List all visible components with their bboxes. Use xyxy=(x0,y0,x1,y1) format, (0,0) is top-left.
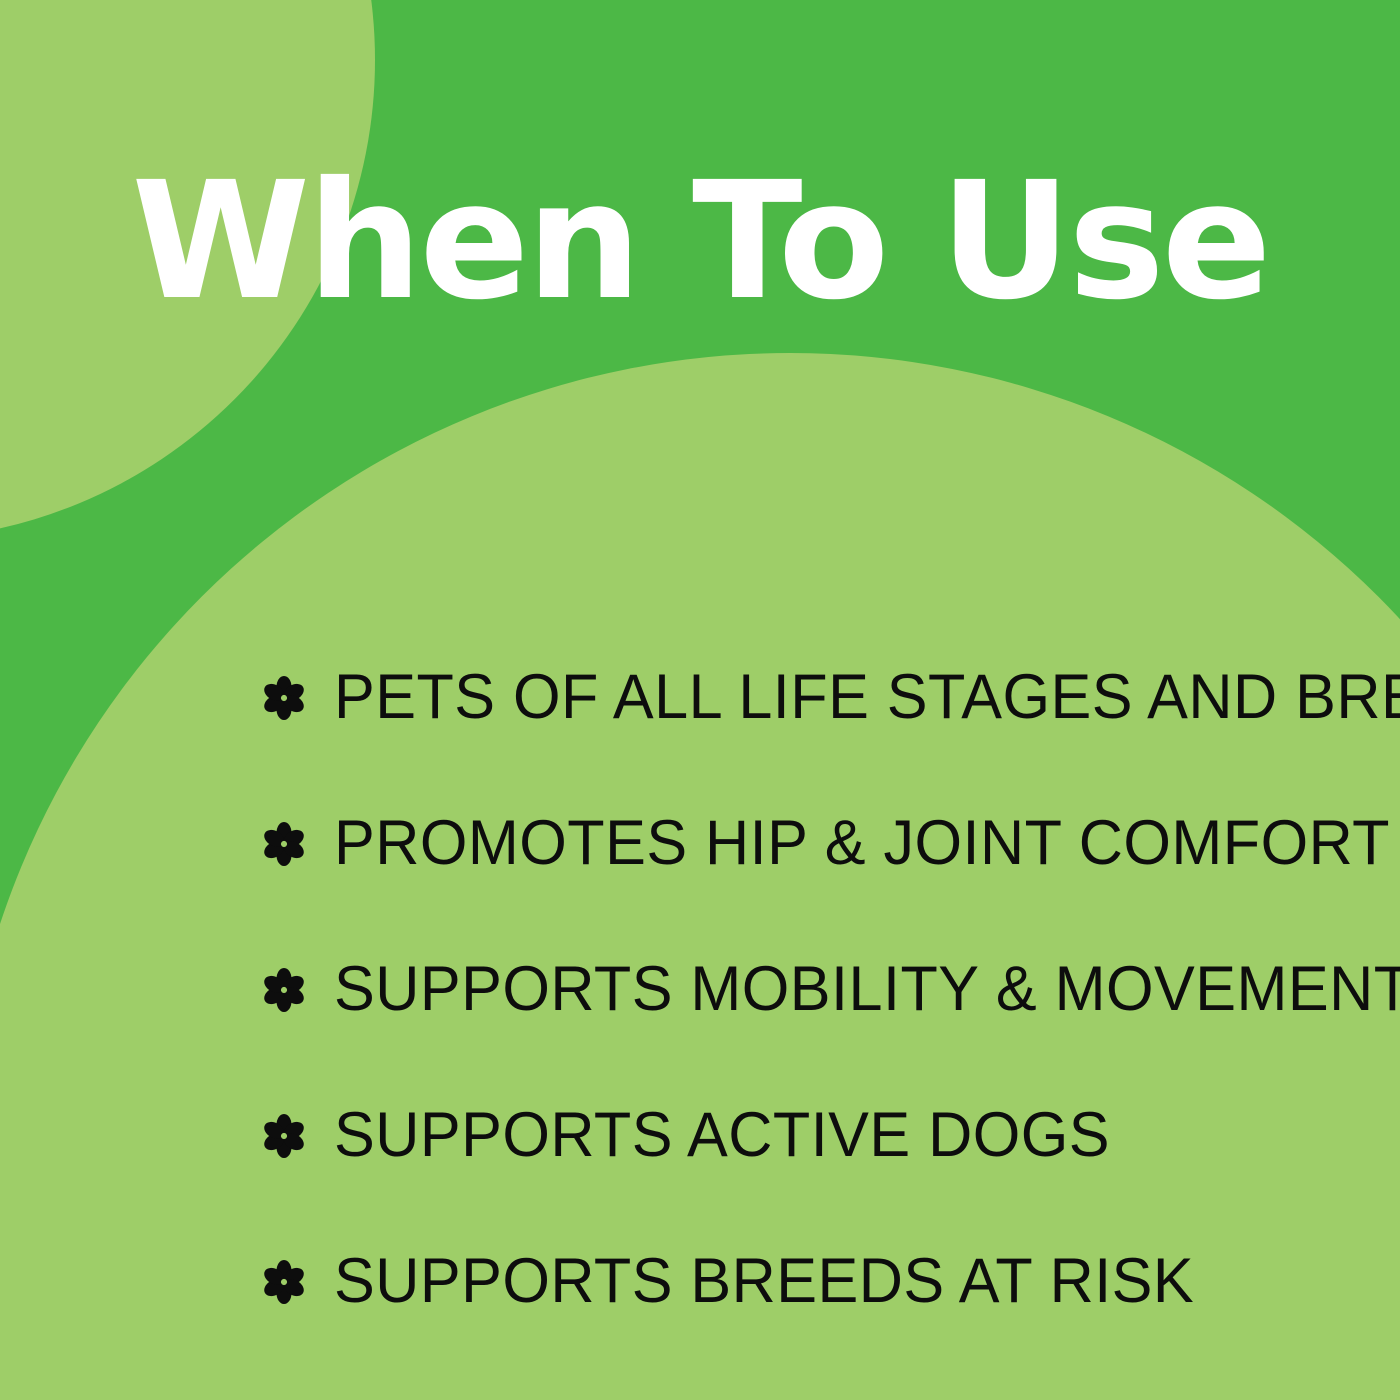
list-item-label: PETS OF ALL LIFE STAGES AND BREEDS xyxy=(334,666,1400,729)
flower-asterisk-icon xyxy=(262,968,306,1012)
list-item-label: SUPPORTS ACTIVE DOGS xyxy=(334,1104,1110,1167)
list-item: PETS OF ALL LIFE STAGES AND BREEDS xyxy=(262,624,1362,770)
when-to-use-poster: When To Use PETS OF ALL LIFE STAGES AN xyxy=(0,0,1400,1400)
flower-asterisk-icon xyxy=(262,1260,306,1304)
list-item: PROMOTES HIP & JOINT COMFORT xyxy=(262,770,1362,916)
flower-asterisk-icon xyxy=(262,822,306,866)
flower-asterisk-icon xyxy=(262,1114,306,1158)
page-title: When To Use xyxy=(0,161,1400,323)
list-item: SUPPORTS BREEDS AT RISK xyxy=(262,1208,1362,1354)
list-item-label: SUPPORTS BREEDS AT RISK xyxy=(334,1250,1194,1313)
list-item: SUPPORTS MOBILITY & MOVEMENT xyxy=(262,916,1362,1062)
list-item-label: PROMOTES HIP & JOINT COMFORT xyxy=(334,812,1390,875)
benefits-list: PETS OF ALL LIFE STAGES AND BREEDS PROMO xyxy=(262,624,1362,1354)
list-item: SUPPORTS ACTIVE DOGS xyxy=(262,1062,1362,1208)
flower-asterisk-icon xyxy=(262,676,306,720)
list-item-label: SUPPORTS MOBILITY & MOVEMENT xyxy=(334,958,1400,1021)
